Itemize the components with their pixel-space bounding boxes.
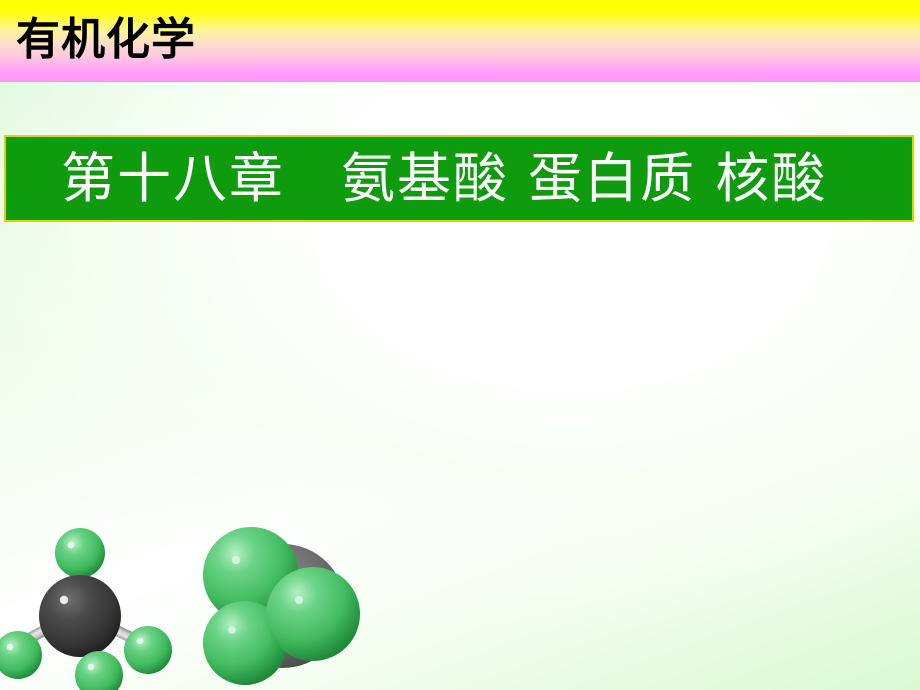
methane-space-filling-illustration bbox=[195, 518, 375, 690]
methane-ball-and-stick-illustration bbox=[0, 520, 200, 690]
carbon-atom-center bbox=[39, 575, 121, 657]
chapter-title: 第十八章 氨基酸 蛋白质 核酸 bbox=[6, 148, 827, 210]
presentation-slide: 有机化学 第十八章 氨基酸 蛋白质 核酸 bbox=[0, 0, 920, 690]
hydrogen-atom-right bbox=[124, 626, 172, 674]
hydrogen-atom-top bbox=[55, 528, 105, 578]
slide-header-banner: 有机化学 bbox=[0, 0, 920, 82]
chapter-title-box: 第十八章 氨基酸 蛋白质 核酸 bbox=[4, 135, 914, 222]
hydrogen-sphere-right bbox=[266, 567, 360, 661]
course-title: 有机化学 bbox=[16, 12, 196, 68]
